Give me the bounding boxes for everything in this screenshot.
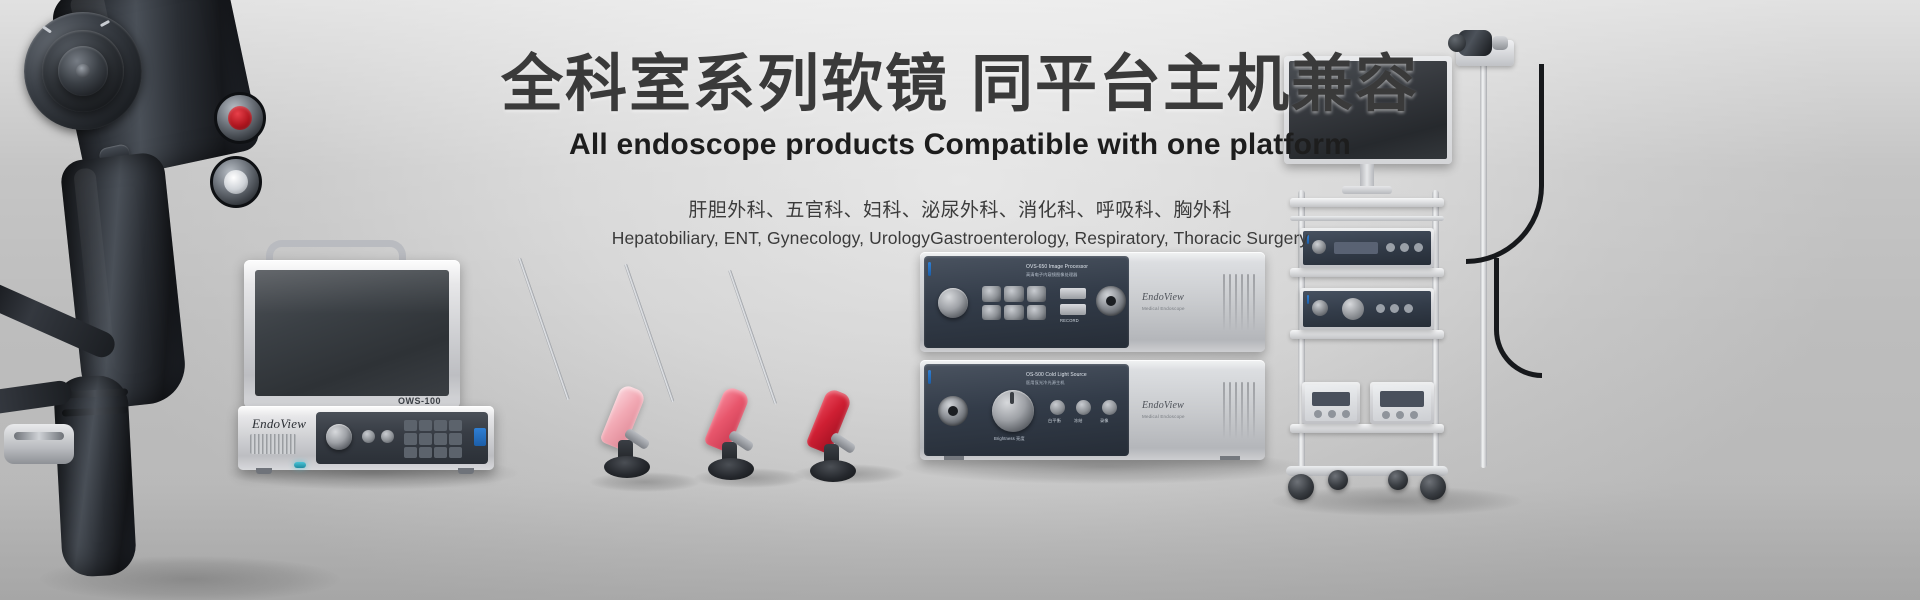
light-source-vent [1223, 382, 1225, 438]
cart-device-small-right [1370, 382, 1434, 424]
light-source-socket [1312, 300, 1328, 316]
cart-shelf-bottom [1290, 424, 1444, 433]
image-processor-unit: OVS-650 Image Processor 高清电子内窥镜图像处理器 REC… [920, 252, 1265, 352]
processor-brand-label: EndoView [1142, 292, 1184, 303]
ows-button-2 [381, 430, 394, 443]
keypad-key [404, 433, 417, 444]
cart-caster-3 [1328, 470, 1348, 490]
small-device-btn [1328, 410, 1336, 418]
instrument-shaft [518, 258, 570, 401]
ows-speaker-grille [250, 434, 296, 454]
instrument-shaft [624, 264, 674, 403]
processor-button [1004, 305, 1023, 321]
ows-foot-left [256, 468, 272, 474]
small-device-display [1312, 392, 1350, 406]
processor-button [1027, 286, 1046, 302]
product-banner: EndoView OWS-100 [0, 0, 1920, 600]
light-source-brand-label: EndoView [1142, 400, 1184, 411]
processor-button [1004, 286, 1023, 302]
stack-foot-left [944, 456, 964, 460]
freeze-button [1076, 400, 1091, 415]
ows-screen-reflection [255, 270, 449, 314]
hung-scope-knob [1448, 34, 1466, 52]
banner-text-block: 全科室系列软镜同平台主机兼容 All endoscope products Co… [0, 52, 1920, 249]
ows-keypad [404, 420, 462, 458]
processor-title-en: OVS-650 Image Processor [1026, 264, 1088, 271]
cart-shelf-second [1290, 268, 1444, 277]
specialties-chinese: 肝胆外科、五官科、妇科、泌尿外科、消化科、呼吸科、胸外科 [0, 195, 1920, 222]
processor-vent [1223, 274, 1225, 330]
processor-sd-slot [1060, 304, 1086, 315]
keypad-key [419, 433, 432, 444]
processor-button [982, 286, 1001, 302]
light-source-dial [1342, 298, 1364, 320]
keypad-key [404, 447, 417, 458]
brightness-dial-label: Brightness 亮度 [994, 436, 1025, 442]
light-source-btn [1404, 304, 1413, 313]
light-source-vent [1253, 382, 1255, 438]
light-source-vent [1247, 382, 1249, 438]
light-guide-connector [4, 424, 74, 464]
ows-foot-right [458, 468, 474, 474]
socket-center [1106, 296, 1116, 306]
keypad-key [419, 447, 432, 458]
ows-brand-label: EndoView [252, 416, 306, 432]
headline-part-1: 全科室系列软镜 [501, 50, 949, 119]
cart-device-light-source [1300, 288, 1434, 330]
small-device-2-btn [1382, 411, 1390, 419]
light-source-power-indicator [928, 370, 931, 384]
endoscope-insertion-tube [53, 374, 137, 578]
ows-main-dial [326, 424, 352, 450]
keypad-key [449, 447, 462, 458]
processor-vent [1235, 274, 1237, 330]
subheadline-english: All endoscope products Compatible with o… [0, 128, 1920, 162]
cart-caster-4 [1388, 470, 1408, 490]
processor-port-label: RECORD [1060, 318, 1079, 324]
small-device-btn [1314, 410, 1322, 418]
hung-scope-connector [1492, 36, 1508, 50]
cart-caster-1 [1288, 474, 1314, 500]
processor-vent [1253, 274, 1255, 330]
instrument-shaft [728, 270, 777, 405]
specialties-english: Hepatobiliary, ENT, Gynecology, UrologyG… [0, 228, 1920, 249]
connector-contact-strip [14, 432, 64, 440]
keypad-key [434, 420, 447, 431]
processor-power-indicator [928, 262, 931, 276]
brightness-dial-pointer [1010, 392, 1014, 404]
cart-shelf-third [1290, 330, 1444, 339]
stack-foot-right [1220, 456, 1240, 460]
processor-title-cn: 高清电子内窥镜图像处理器 [1026, 272, 1077, 278]
ows-power-led [294, 462, 306, 468]
light-source-btn [1390, 304, 1399, 313]
headline: 全科室系列软镜同平台主机兼容 [0, 52, 1920, 119]
processor-vent [1241, 274, 1243, 330]
white-balance-button [1050, 400, 1065, 415]
keypad-key [404, 420, 417, 431]
processor-usb-port [1060, 288, 1086, 299]
processor-main-dial [938, 288, 968, 318]
keypad-key [434, 447, 447, 458]
light-source-vent [1229, 382, 1231, 438]
small-device-2-btn [1410, 411, 1418, 419]
keypad-key [419, 420, 432, 431]
laparoscopic-instrument-red [722, 270, 872, 492]
keypad-key [449, 420, 462, 431]
instrument-stand-base [810, 460, 856, 482]
light-source-vent [1241, 382, 1243, 438]
endoview-processor-stack: OVS-650 Image Processor 高清电子内窥镜图像处理器 REC… [920, 252, 1280, 467]
headline-part-2: 同平台主机兼容 [971, 50, 1419, 119]
freeze-label: 冻结 [1074, 418, 1083, 424]
cart-caster-2 [1420, 474, 1446, 500]
light-source-title-en: OS-500 Cold Light Source [1026, 372, 1087, 379]
processor-button [982, 305, 1001, 321]
light-source-btn [1376, 304, 1385, 313]
light-source-title-cn: 医用氙光冷光源主机 [1026, 380, 1065, 386]
small-device-btn [1342, 410, 1350, 418]
small-device-2-display [1380, 391, 1424, 407]
processor-vent [1247, 274, 1249, 330]
light-source-brand-sub: Medical Endoscope [1142, 414, 1185, 419]
record-label: 录像 [1100, 418, 1109, 424]
record-button [1102, 400, 1117, 415]
light-source-vent [1235, 382, 1237, 438]
keypad-key [449, 433, 462, 444]
processor-button [1027, 305, 1046, 321]
processor-brand-sub: Medical Endoscope [1142, 306, 1185, 311]
processor-button-cluster [982, 286, 1046, 320]
light-source-indicator [1307, 295, 1309, 304]
ows-model-label: OWS-100 [398, 396, 441, 406]
light-socket-center [948, 406, 958, 416]
cart-base-frame [1286, 466, 1448, 476]
white-balance-label: 白平衡 [1048, 418, 1061, 424]
ows-status-indicator [474, 428, 486, 446]
ows-button-1 [362, 430, 375, 443]
hung-scope-tube-lower [1494, 258, 1542, 378]
ows-100-workstation: EndoView OWS-100 [238, 248, 498, 470]
small-device-2-btn [1396, 411, 1404, 419]
cart-device-small-left [1302, 382, 1360, 424]
processor-vent [1229, 274, 1231, 330]
light-source-unit: OS-500 Cold Light Source 医用氙光冷光源主机 Brigh… [920, 360, 1265, 460]
keypad-key [434, 433, 447, 444]
